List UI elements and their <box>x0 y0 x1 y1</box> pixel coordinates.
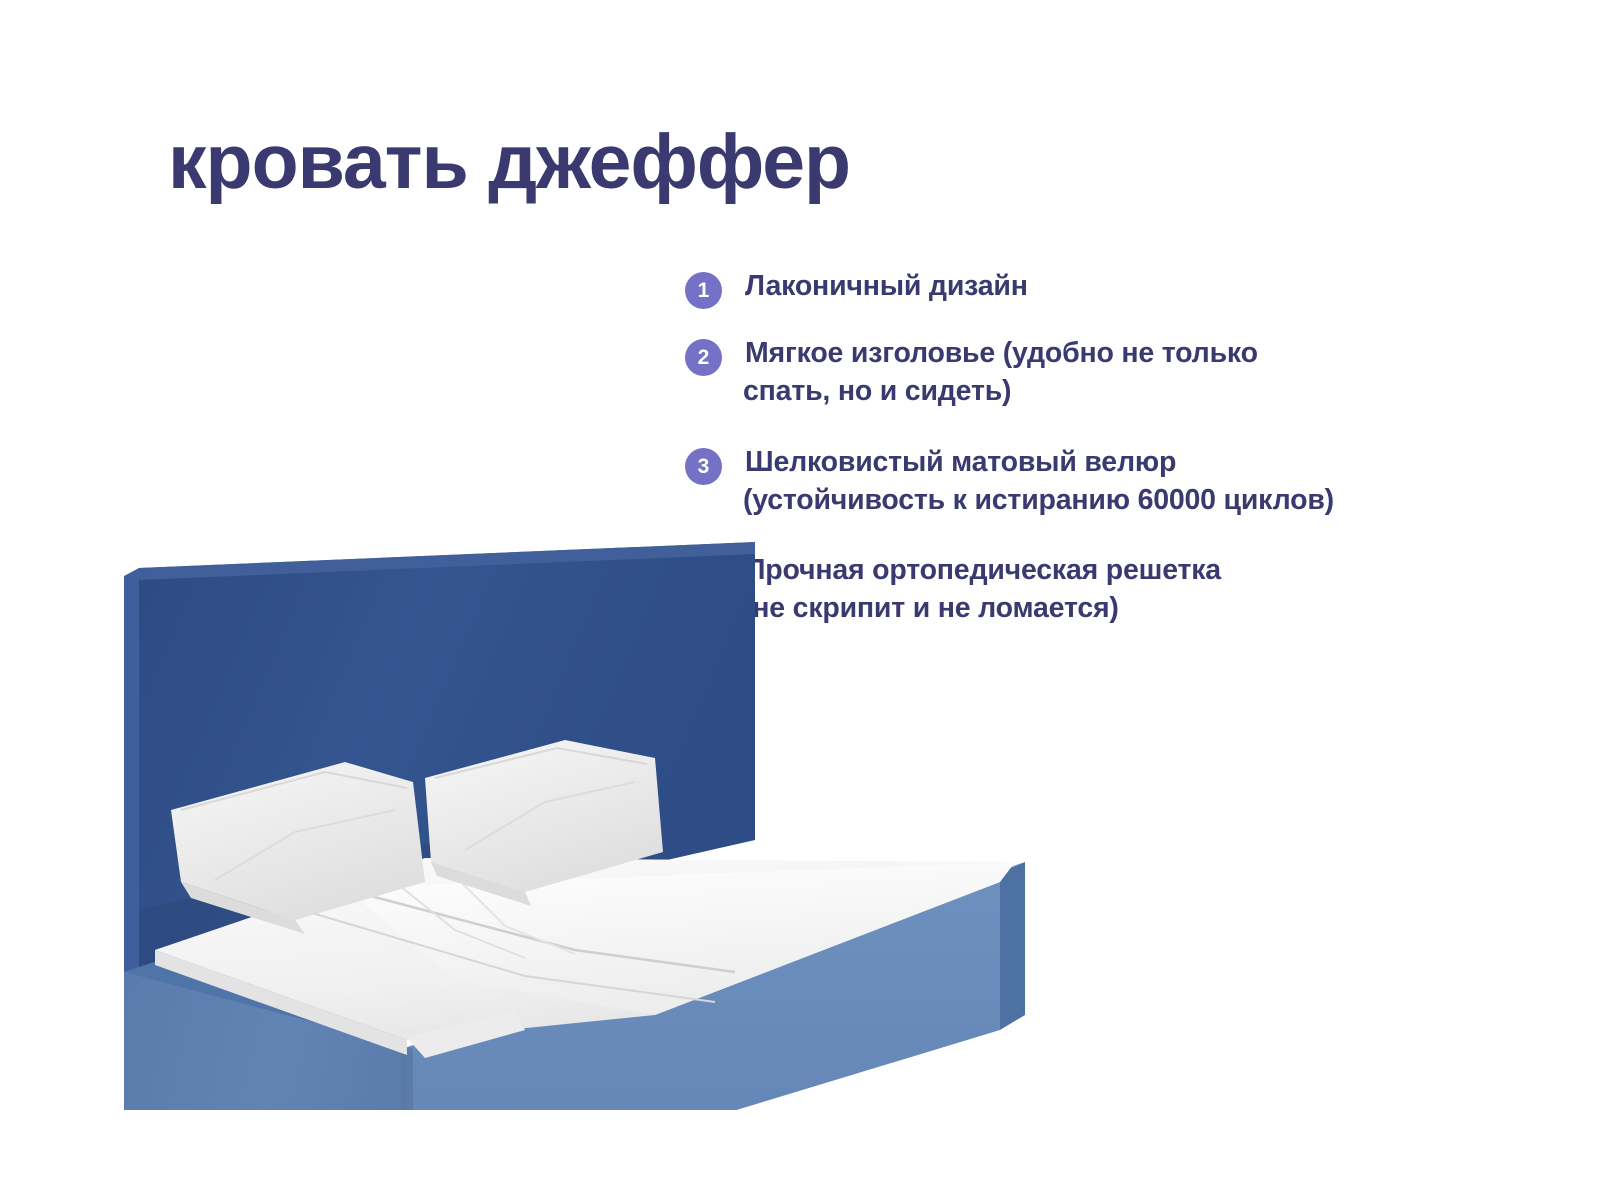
feature-item-3: 3 Шелковистый матовый велюр (устойчивост… <box>685 444 1505 520</box>
base-right-endcap <box>1000 862 1025 1030</box>
feature-number-badge-3: 3 <box>685 448 722 485</box>
feature-line-1a: Лаконичный дизайн <box>745 270 1028 302</box>
feature-item-1: 1 Лаконичный дизайн <box>685 268 1505 306</box>
bed-illustration <box>95 510 1055 1110</box>
base-corner-seam <box>401 1046 413 1110</box>
feature-number-badge-2: 2 <box>685 339 722 376</box>
page-title: кровать джеффер <box>168 124 850 201</box>
feature-line-2a: Мягкое изголовье (удобно не только <box>745 337 1258 369</box>
feature-text-3: Шелковистый матовый велюр (устойчивость … <box>685 444 1505 520</box>
feature-line-3a: Шелковистый матовый велюр <box>745 446 1176 478</box>
headboard-left-edge <box>124 568 139 980</box>
feature-item-2: 2 Мягкое изголовье (удобно не только спа… <box>685 335 1505 411</box>
product-image <box>95 510 1055 1110</box>
feature-number-badge-1: 1 <box>685 272 722 309</box>
feature-text-2: Мягкое изголовье (удобно не только спать… <box>685 335 1505 411</box>
feature-text-1: Лаконичный дизайн <box>685 268 1505 306</box>
feature-line-2b: спать, но и сидеть) <box>743 373 1505 411</box>
infographic-canvas: кровать джеффер 1 Лаконичный дизайн 2 Мя… <box>0 0 1600 1200</box>
